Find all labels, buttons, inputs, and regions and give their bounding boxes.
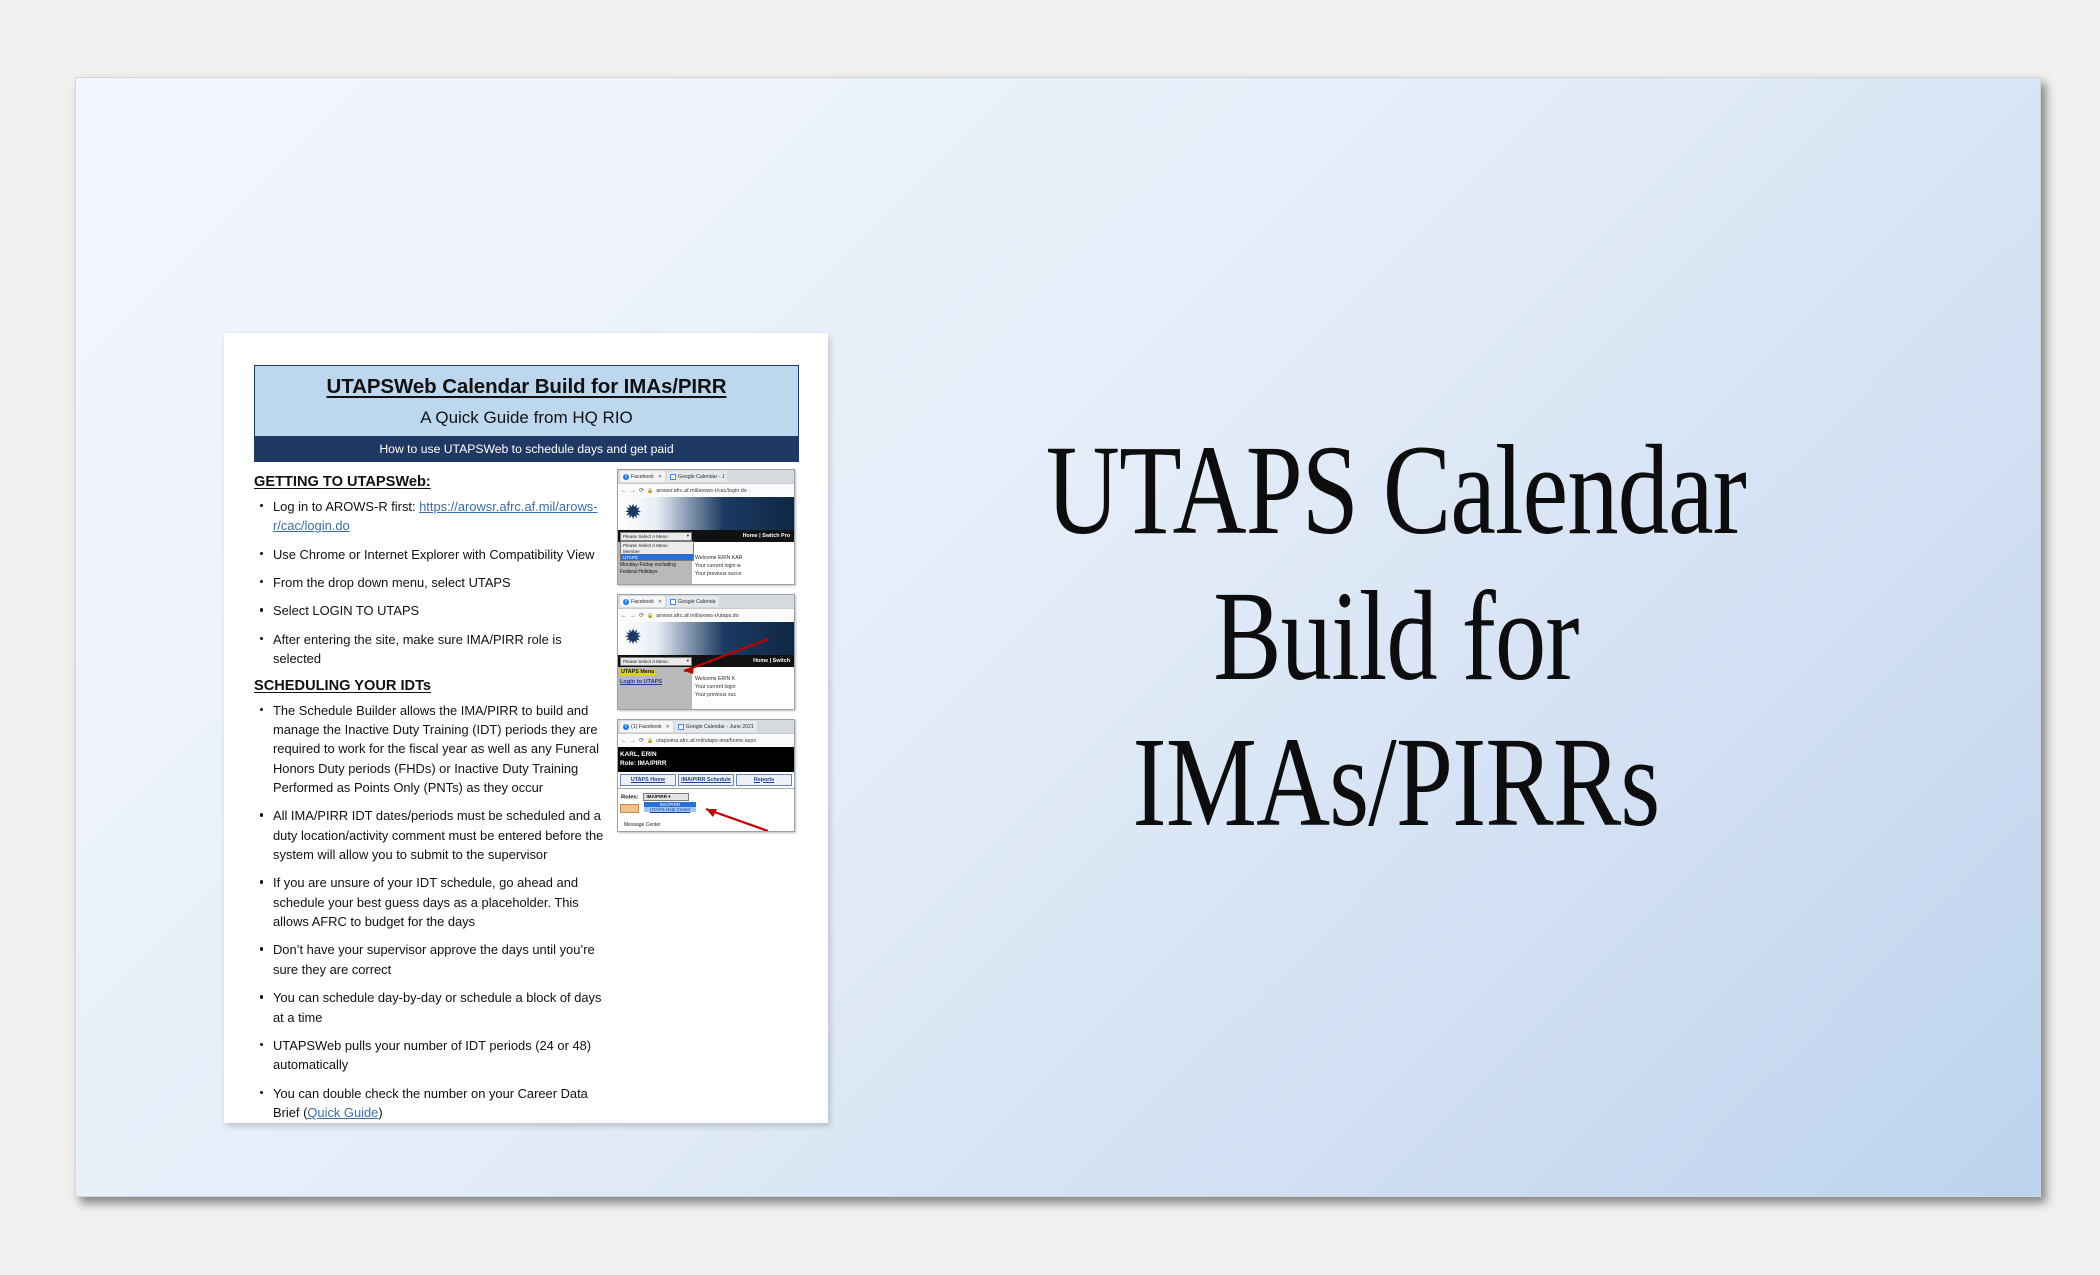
tab-label: Google Calendar - June 2021 <box>686 724 754 730</box>
user-header: KARL, ERIN Role: IMA/PIRR <box>618 747 794 772</box>
roles-row: Roles: IMA/PIRR ▾ <box>618 789 794 801</box>
screenshot-arows-utaps-menu: f Facebook ✕ Google Calenda ← <box>617 594 795 710</box>
close-icon[interactable]: ✕ <box>658 474 662 480</box>
roles-option-help-center[interactable]: UTAPS Help Center <box>644 807 696 812</box>
bullet-list-getting-to-utapsweb: Log in to AROWS-R first: https://arowsr.… <box>254 497 612 669</box>
list-item: If you are unsure of your IDT schedule, … <box>254 873 612 931</box>
presentation-slide: UTAPS Calendar Build for IMAs/PIRRs UTAP… <box>75 77 2041 1197</box>
google-calendar-icon <box>678 724 684 730</box>
document-header-band: UTAPSWeb Calendar Build for IMAs/PIRR A … <box>254 365 799 437</box>
af-banner: ✹ <box>618 622 794 655</box>
roles-dropdown-area: IMA/PIRR UTAPS Help Center <box>618 802 794 816</box>
utaps-menu-label: UTAPS Menu <box>620 669 655 676</box>
dropdown-option-utaps[interactable]: UTAPS <box>621 554 693 560</box>
tab-label: (1) Facebook <box>631 724 662 730</box>
tab-label: Google Calendar - J <box>678 474 724 480</box>
close-icon[interactable]: ✕ <box>666 724 670 730</box>
browser-tabbar: f Facebook ✕ Google Calendar - J <box>618 470 794 483</box>
roles-select-value: IMA/PIRR <box>646 794 667 799</box>
nav-strip: Please Select A Menu ▾ Home | Switch Pro… <box>618 530 794 542</box>
menu-select[interactable]: Please Select A Menu ▾ <box>620 532 692 541</box>
browser-tabbar: f (1) Facebook ✕ Google Calendar - June … <box>618 720 794 733</box>
login-to-utaps-link[interactable]: Login to UTAPS <box>620 679 662 685</box>
screenshot-column: f Facebook ✕ Google Calendar - J <box>612 469 804 1131</box>
air-force-wing-icon: ✹ <box>623 500 643 526</box>
document-body: GETTING TO UTAPSWeb: Log in to AROWS-R f… <box>254 469 799 1131</box>
browser-urlbar[interactable]: ← → ⟳ 🔒 arowsr.afrc.af.mil/arows-r/cac/l… <box>618 483 794 497</box>
user-name: KARL, ERIN <box>620 750 791 759</box>
close-icon[interactable]: ✕ <box>658 599 662 605</box>
reload-icon[interactable]: ⟳ <box>639 487 644 494</box>
nav-links[interactable]: Home | Switch Pro <box>743 533 794 539</box>
menu-select-value: Please Select A Menu <box>623 534 668 539</box>
chevron-down-icon: ▾ <box>687 658 689 664</box>
document-strip: How to use UTAPSWeb to schedule days and… <box>254 437 799 462</box>
utaps-nav-tabs: UTAPS Home IMA/PIRR Schedule Reports <box>618 772 794 789</box>
forward-arrow-icon[interactable]: → <box>630 738 636 744</box>
list-item: After entering the site, make sure IMA/P… <box>254 630 612 669</box>
facebook-icon: f <box>623 474 629 480</box>
menu-dropdown-options[interactable]: Please Select A Menu Member UTAPS <box>620 541 694 561</box>
section-heading-getting-to-utapsweb: GETTING TO UTAPSWeb: <box>254 474 612 490</box>
screenshot-utaps-home-roles: f (1) Facebook ✕ Google Calendar - June … <box>617 719 795 832</box>
list-item: From the drop down menu, select UTAPS <box>254 573 612 592</box>
reload-icon[interactable]: ⟳ <box>639 737 644 744</box>
lock-icon: 🔒 <box>647 488 653 494</box>
quick-guide-document: UTAPSWeb Calendar Build for IMAs/PIRR A … <box>224 333 828 1123</box>
reload-icon[interactable]: ⟳ <box>639 612 644 619</box>
text-column: GETTING TO UTAPSWeb: Log in to AROWS-R f… <box>254 469 612 1131</box>
list-item: Don’t have your supervisor approve the d… <box>254 940 612 979</box>
browser-tabbar: f Facebook ✕ Google Calenda <box>618 595 794 608</box>
document-subtitle: A Quick Guide from HQ RIO <box>255 408 798 428</box>
tab-label: Facebook <box>631 599 654 605</box>
list-item: Log in to AROWS-R first: https://arowsr.… <box>254 497 612 536</box>
url-text: arowsr.afrc.af.mil/arows-r/cac/login.do <box>656 488 746 494</box>
roles-select[interactable]: IMA/PIRR ▾ <box>643 793 689 801</box>
screenshot-arows-login-dropdown: f Facebook ✕ Google Calendar - J <box>617 469 795 585</box>
list-item: Use Chrome or Internet Explorer with Com… <box>254 545 612 564</box>
bullet-text: Log in to AROWS-R first: <box>273 499 419 514</box>
slide-title: UTAPS Calendar Build for IMAs/PIRRs <box>916 418 1876 856</box>
air-force-wing-icon: ✹ <box>623 625 643 651</box>
roles-panel: Roles: IMA/PIRR ▾ IMA/PIRR UTAPS Help Ce… <box>618 789 794 831</box>
browser-tab[interactable]: Google Calendar - June 2021 <box>675 721 757 732</box>
nav-strip: Please Select A Menu ▾ Home | Switch <box>618 655 794 667</box>
list-item: Select LOGIN TO UTAPS <box>254 601 612 620</box>
nav-links[interactable]: Home | Switch <box>753 658 794 664</box>
menu-select-value: Please Select A Menu <box>623 659 668 664</box>
browser-tab[interactable]: Google Calendar - J <box>667 471 727 482</box>
tab-reports[interactable]: Reports <box>736 774 792 786</box>
browser-urlbar[interactable]: ← → ⟳ 🔒 utapsima.afrc.af.mil/utaps-ima/h… <box>618 733 794 747</box>
browser-tab[interactable]: f Facebook ✕ <box>620 596 665 607</box>
message-center-label: Message Center <box>618 816 794 828</box>
url-text: utapsima.afrc.af.mil/utaps-ima/home.aspx <box>656 738 756 744</box>
section-heading-scheduling-your-idts: SCHEDULING YOUR IDTs <box>254 678 612 694</box>
menu-select[interactable]: Please Select A Menu ▾ <box>620 657 692 666</box>
welcome-panel: Welcome ERIN K Your current login Your p… <box>692 667 794 709</box>
google-calendar-icon <box>670 474 676 480</box>
browser-tab[interactable]: f Facebook ✕ <box>620 471 665 482</box>
icon-placeholder <box>620 804 639 813</box>
roles-dropdown-options[interactable]: IMA/PIRR UTAPS Help Center <box>644 802 696 812</box>
chevron-down-icon: ▾ <box>687 533 689 539</box>
list-item: All IMA/PIRR IDT dates/periods must be s… <box>254 806 612 864</box>
tab-label: Facebook <box>631 474 654 480</box>
bullet-list-scheduling-your-idts: The Schedule Builder allows the IMA/PIRR… <box>254 701 612 1123</box>
tab-ima-pirr-schedule[interactable]: IMA/PIRR Schedule <box>678 774 734 786</box>
forward-arrow-icon[interactable]: → <box>630 613 636 619</box>
welcome-panel: Welcome ERIN KAR Your current login w Yo… <box>692 542 794 584</box>
browser-tab[interactable]: Google Calenda <box>667 596 719 607</box>
list-item: UTAPSWeb pulls your number of IDT period… <box>254 1036 612 1075</box>
lock-icon: 🔒 <box>647 738 653 744</box>
user-role: Role: IMA/PIRR <box>620 759 791 768</box>
document-title: UTAPSWeb Calendar Build for IMAs/PIRR <box>255 375 798 399</box>
facebook-icon: f <box>623 724 629 730</box>
browser-tab[interactable]: f (1) Facebook ✕ <box>620 721 673 732</box>
lock-icon: 🔒 <box>647 613 653 619</box>
list-item: You can double check the number on your … <box>254 1084 612 1123</box>
back-arrow-icon[interactable]: ← <box>621 488 627 494</box>
document-content: UTAPSWeb Calendar Build for IMAs/PIRR A … <box>254 365 799 1131</box>
facebook-icon: f <box>623 599 629 605</box>
tab-utaps-home[interactable]: UTAPS Home <box>620 774 676 786</box>
tab-label: Google Calenda <box>678 599 716 605</box>
roles-label: Roles: <box>621 794 639 800</box>
browser-urlbar[interactable]: ← → ⟳ 🔒 arowsr.afrc.af.mil/arows-r/utaps… <box>618 608 794 622</box>
list-item: The Schedule Builder allows the IMA/PIRR… <box>254 701 612 798</box>
back-arrow-icon[interactable]: ← <box>621 738 627 744</box>
utaps-menu-sidebar: UTAPS Menu Login to UTAPS <box>618 667 692 709</box>
screenshot-root: UTAPS Calendar Build for IMAs/PIRRs UTAP… <box>0 0 2100 1275</box>
af-banner: ✹ <box>618 497 794 530</box>
bullet-text-suffix: ) <box>378 1105 382 1120</box>
quick-guide-link[interactable]: Quick Guide <box>307 1105 378 1120</box>
forward-arrow-icon[interactable]: → <box>630 488 636 494</box>
url-text: arowsr.afrc.af.mil/arows-r/utaps.do <box>656 613 738 619</box>
list-item: You can schedule day-by-day or schedule … <box>254 988 612 1027</box>
back-arrow-icon[interactable]: ← <box>621 613 627 619</box>
page-content: UTAPS Menu Login to UTAPS Welcome ERIN K… <box>618 667 794 709</box>
google-calendar-icon <box>670 599 676 605</box>
